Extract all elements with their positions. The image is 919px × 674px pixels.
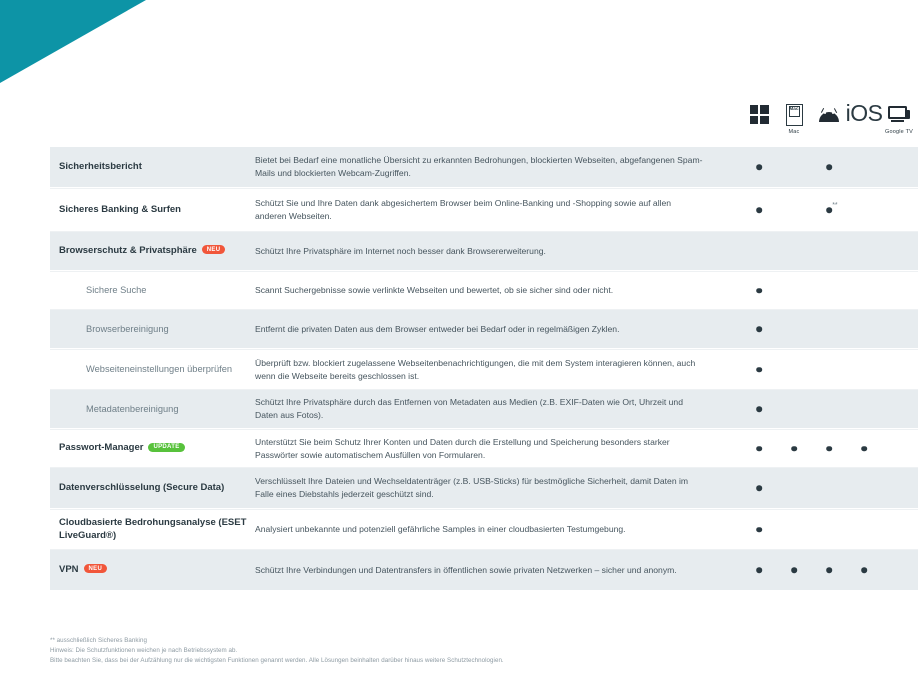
feature-description-cell: Unterstützt Sie beim Schutz Ihrer Konten… (255, 436, 710, 462)
support-dot-windows (756, 406, 762, 412)
footnote-marker: ** (832, 202, 837, 209)
feature-description-cell: Schützt Sie und Ihre Daten dank abgesich… (255, 197, 710, 223)
platform-support-cell (710, 272, 918, 309)
platform-support-cell: ** (710, 189, 918, 231)
status-badge: NEU (202, 245, 226, 254)
support-dot-mac (791, 567, 797, 573)
table-row[interactable]: BrowserbereinigungEntfernt die privaten … (50, 310, 918, 349)
footnote-line: ** ausschließlich Sicheres Banking (50, 636, 504, 646)
table-row[interactable]: Sicheres Banking & SurfenSchützt Sie und… (50, 188, 918, 232)
support-dot-windows (756, 164, 762, 170)
support-dot-windows (756, 446, 762, 452)
support-dot-ios (861, 446, 867, 452)
feature-name-label: Datenverschlüsselung (Secure Data) (59, 482, 224, 493)
support-dot-windows (756, 326, 762, 332)
feature-name-label: Sicheres Banking & Surfen (59, 204, 181, 215)
table-row[interactable]: Passwort-ManagerUPDATEUnterstützt Sie be… (50, 429, 918, 468)
table-row[interactable]: Browserschutz & PrivatsphäreNEUSchützt I… (50, 232, 918, 271)
support-dot-windows (756, 207, 762, 213)
support-dot-windows (756, 367, 762, 373)
footnote-line: Hinweis: Die Schutzfunktionen weichen je… (50, 646, 504, 656)
table-row[interactable]: Datenverschlüsselung (Secure Data)Versch… (50, 468, 918, 509)
feature-name-label: Passwort-Manager (59, 442, 143, 453)
table-row[interactable]: Cloudbasierte Bedrohungsanalyse (ESET Li… (50, 509, 918, 550)
support-dot-windows (756, 485, 762, 491)
google-tv-icon (873, 100, 919, 130)
footnote-line: Bitte beachten Sie, dass bei der Aufzähl… (50, 656, 504, 666)
feature-description-cell: Bietet bei Bedarf eine monatliche Übersi… (255, 154, 710, 180)
feature-description-cell: Schützt Ihre Privatsphäre im Internet no… (255, 245, 710, 258)
feature-name-label: Sicherheitsbericht (59, 161, 142, 172)
feature-name-label: Metadatenbereinigung (86, 404, 179, 414)
footnote-block: ** ausschließlich Sicheres BankingHinwei… (50, 636, 504, 667)
feature-description-cell: Schützt Ihre Privatsphäre durch das Entf… (255, 396, 710, 422)
feature-description-cell: Überprüft bzw. blockiert zugelassene Web… (255, 357, 710, 383)
platform-support-cell (710, 430, 918, 467)
feature-name-label: Browserschutz & Privatsphäre (59, 245, 197, 256)
table-row[interactable]: Sichere SucheScannt Suchergebnisse sowie… (50, 271, 918, 310)
feature-name-cell: Passwort-ManagerUPDATE (50, 442, 255, 455)
platform-support-cell (710, 468, 918, 508)
feature-name-cell: Browserschutz & PrivatsphäreNEU (50, 245, 255, 258)
feature-description-cell: Schützt Ihre Verbindungen und Datentrans… (255, 564, 710, 577)
table-row[interactable]: MetadatenbereinigungSchützt Ihre Privats… (50, 390, 918, 429)
feature-name-cell: Sicherheitsbericht (50, 161, 255, 174)
feature-name-cell: Sicheres Banking & Surfen (50, 204, 255, 217)
platform-support-cell (710, 550, 918, 590)
support-dot-android (826, 567, 832, 573)
feature-description-cell: Analysiert unbekannte und potenziell gef… (255, 523, 710, 536)
feature-name-cell: VPNNEU (50, 564, 255, 577)
feature-name-cell: Sichere Suche (50, 284, 255, 297)
support-dot-android: ** (826, 207, 832, 213)
feature-name-label: Sichere Suche (86, 285, 146, 295)
feature-name-cell: Metadatenbereinigung (50, 403, 255, 416)
feature-comparison-table: SicherheitsberichtBietet bei Bedarf eine… (50, 147, 918, 591)
support-dot-ios (861, 567, 867, 573)
feature-name-cell: Datenverschlüsselung (Secure Data) (50, 482, 255, 495)
decorative-teal-corner (0, 0, 146, 83)
support-dot-android (826, 446, 832, 452)
platform-support-cell (710, 390, 918, 428)
platform-column-googletv: Google TV (873, 100, 919, 135)
support-dot-windows (756, 567, 762, 573)
feature-description-cell: Entfernt die privaten Daten aus dem Brow… (255, 323, 710, 336)
feature-description-cell: Scannt Suchergebnisse sowie verlinkte We… (255, 284, 710, 297)
platform-support-cell (710, 147, 918, 187)
platform-label-googletv: Google TV (873, 129, 919, 135)
feature-name-cell: Browserbereinigung (50, 323, 255, 336)
status-badge: NEU (84, 564, 108, 573)
platform-icon-header: MacMaciOSiOSGoogle TV (50, 100, 918, 145)
feature-name-label: Cloudbasierte Bedrohungsanalyse (ESET Li… (59, 517, 246, 541)
feature-name-label: VPN (59, 564, 79, 575)
support-dot-windows (756, 527, 762, 533)
status-badge: UPDATE (148, 443, 184, 452)
table-row[interactable]: VPNNEUSchützt Ihre Verbindungen und Date… (50, 550, 918, 591)
support-dot-windows (756, 288, 762, 294)
platform-support-cell (710, 310, 918, 348)
feature-name-cell: Cloudbasierte Bedrohungsanalyse (ESET Li… (50, 517, 255, 543)
platform-support-cell (710, 350, 918, 389)
platform-support-cell (710, 510, 918, 549)
support-dot-android (826, 164, 832, 170)
table-row[interactable]: SicherheitsberichtBietet bei Bedarf eine… (50, 147, 918, 188)
feature-name-label: Webseiteneinstellungen überprüfen (86, 364, 232, 374)
feature-description-cell: Verschlüsselt Ihre Dateien und Wechselda… (255, 475, 710, 501)
support-dot-mac (791, 446, 797, 452)
feature-name-label: Browserbereinigung (86, 324, 169, 334)
platform-support-cell (710, 232, 918, 270)
feature-name-cell: Webseiteneinstellungen überprüfen (50, 363, 255, 376)
table-row[interactable]: Webseiteneinstellungen überprüfenÜberprü… (50, 349, 918, 390)
